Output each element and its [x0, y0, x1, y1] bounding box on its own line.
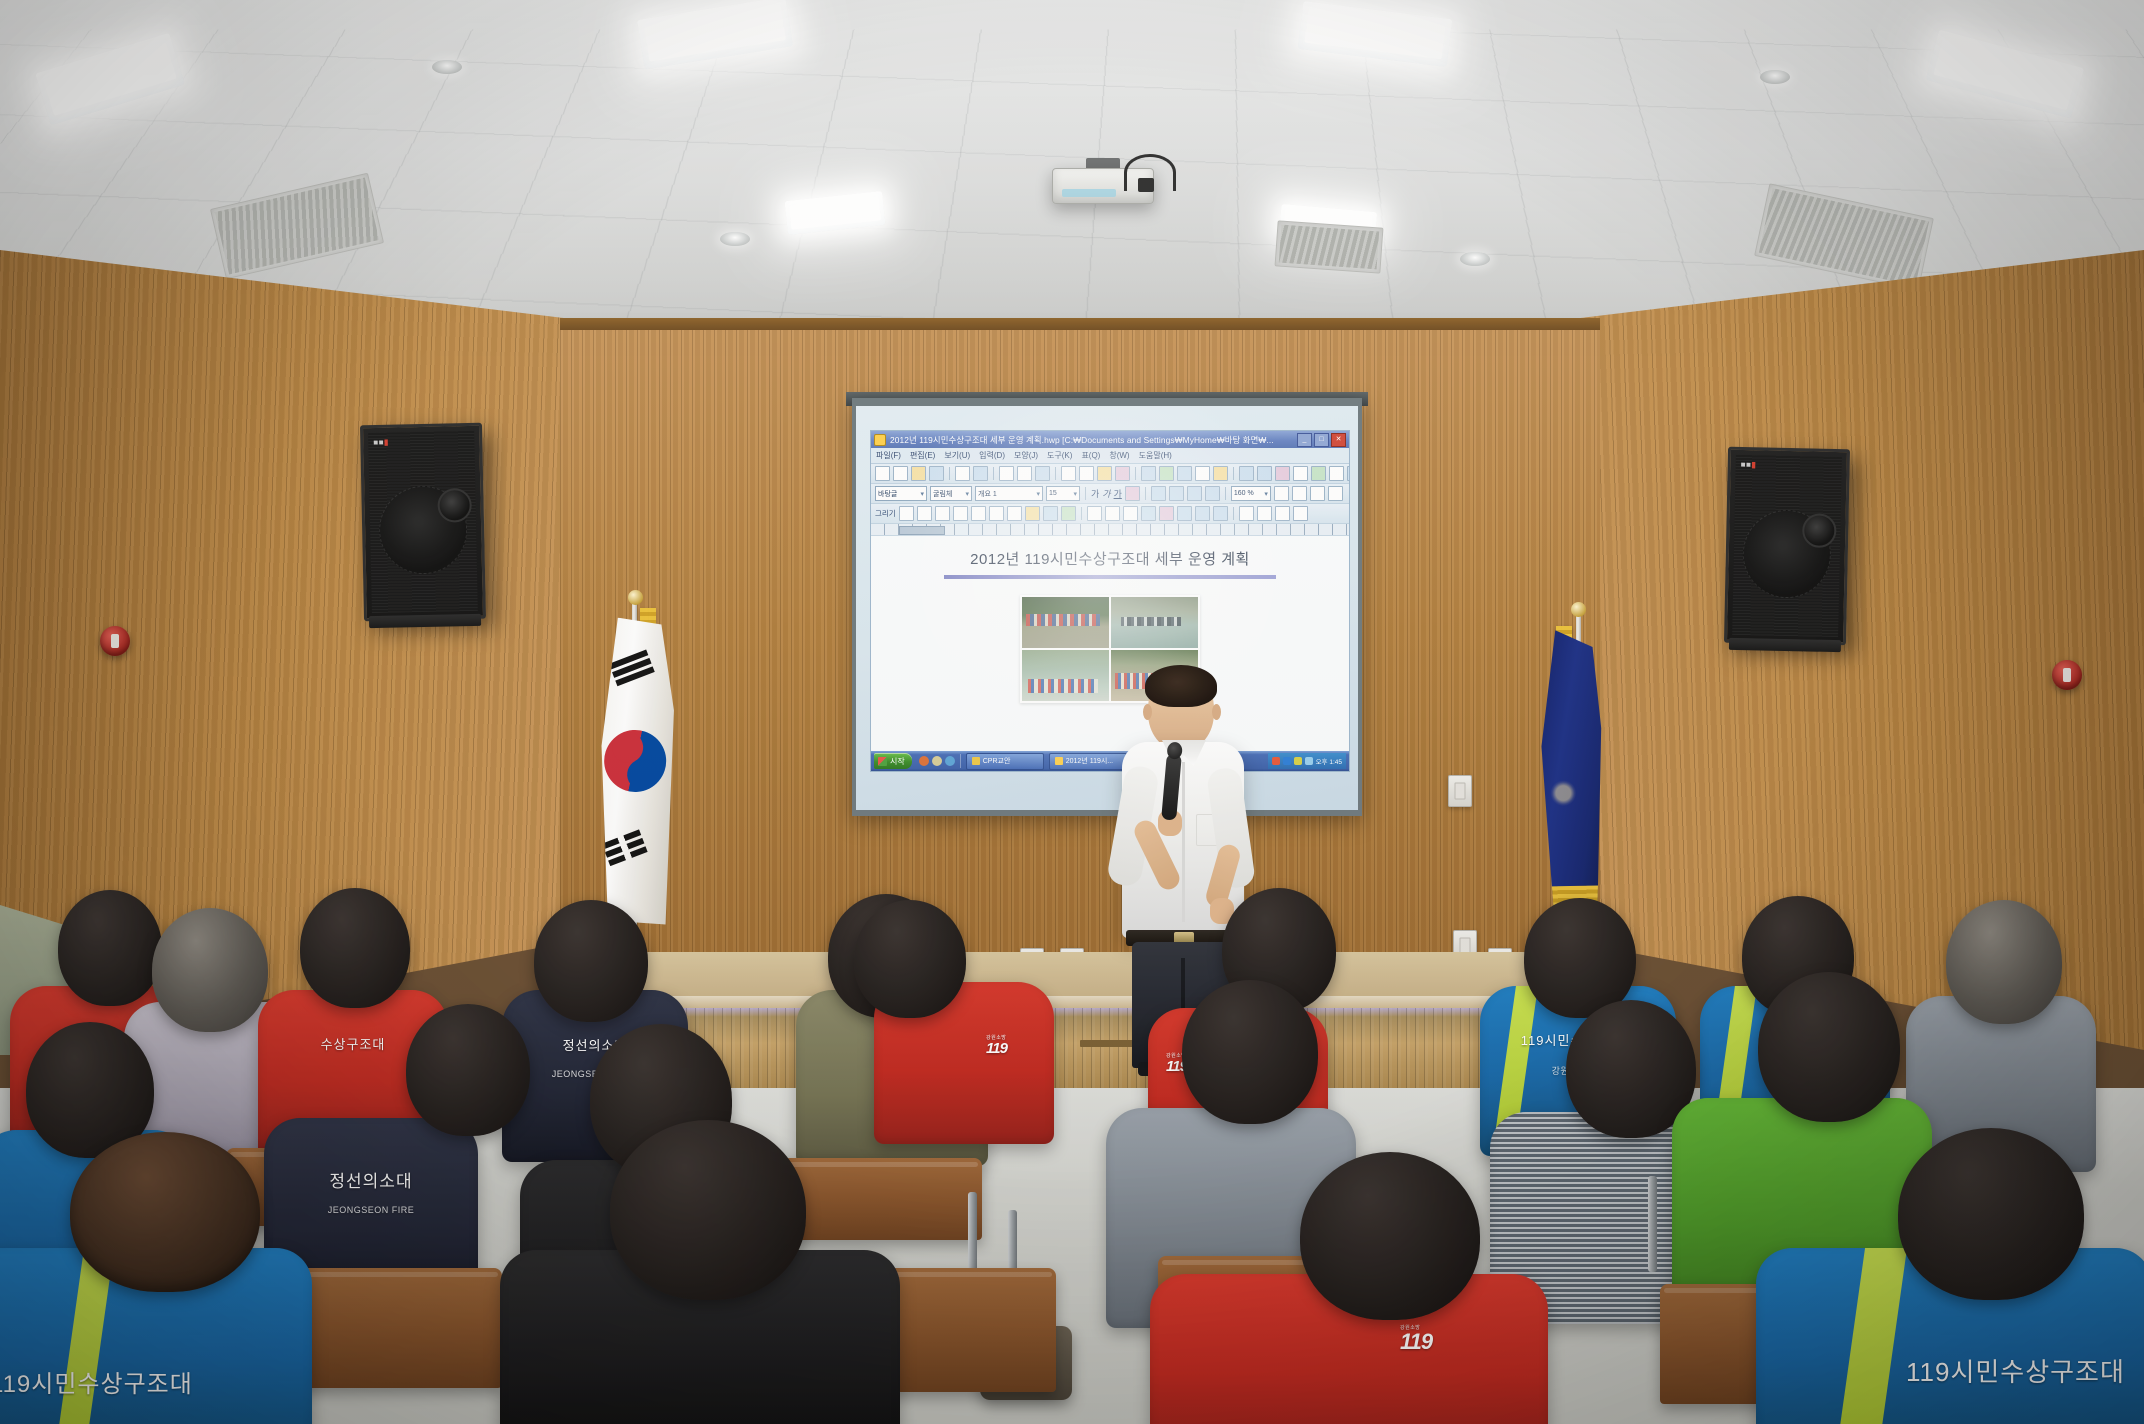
align-left-icon[interactable]: [1151, 486, 1166, 501]
audience-head: [854, 900, 966, 1018]
page-setup-icon[interactable]: [1239, 466, 1254, 481]
taskbar-item-hwp[interactable]: 2012년 119시...: [1049, 753, 1127, 770]
flip-icon[interactable]: [1275, 506, 1290, 521]
presenter-ear-left: [1143, 704, 1152, 720]
hwp-horizontal-ruler[interactable]: [871, 524, 1349, 536]
start-button[interactable]: 시작: [874, 753, 912, 769]
rectangle-tool-icon[interactable]: [935, 506, 950, 521]
redo-icon[interactable]: [1017, 466, 1032, 481]
window-controls[interactable]: _ □ ✕: [1297, 433, 1346, 447]
columns-icon[interactable]: [1257, 466, 1272, 481]
recessed-downlight: [1460, 252, 1490, 266]
uniform-back-subtext: JEONGSEON FIRE: [264, 1205, 478, 1215]
underline-button[interactable]: 가: [1114, 487, 1122, 500]
polygon-tool-icon[interactable]: [989, 506, 1004, 521]
audience-head: [1946, 900, 2062, 1024]
order-objects-icon[interactable]: [1195, 506, 1210, 521]
fire-alarm-bell-icon: [100, 626, 130, 656]
presenter-ear-right: [1212, 704, 1221, 720]
crop-icon[interactable]: [1293, 506, 1308, 521]
presenter-hair: [1145, 665, 1217, 707]
rotate-icon[interactable]: [1087, 506, 1102, 521]
hwp-menu-bar[interactable]: 파일(F) 편집(E) 보기(U) 입력(D) 모양(J) 도구(K) 표(Q)…: [871, 448, 1349, 464]
tray-ime-icon[interactable]: [1305, 757, 1313, 765]
select-object-icon[interactable]: [899, 506, 914, 521]
new-document-icon[interactable]: [875, 466, 890, 481]
copy-icon[interactable]: [1079, 466, 1094, 481]
bold-button[interactable]: 가: [1091, 487, 1099, 500]
folder-open-icon[interactable]: [911, 466, 926, 481]
quicklaunch-media-icon[interactable]: [945, 756, 955, 766]
audience-head: [1898, 1128, 2084, 1300]
projection-screen: 2012년 119시민수상구조대 세부 운영 계획.hwp [C:₩Docume…: [856, 406, 1358, 810]
ungroup-icon[interactable]: [1123, 506, 1138, 521]
font-size-value: 15: [1049, 490, 1057, 497]
align-justify-icon[interactable]: [1205, 486, 1220, 501]
speaker-base: [1729, 638, 1841, 652]
menu-item-format[interactable]: 모양(J): [1014, 450, 1038, 461]
audience-head: [534, 900, 648, 1022]
paragraph-style-combo[interactable]: 개요 1▾: [975, 486, 1043, 501]
menu-item-edit[interactable]: 편집(E): [910, 450, 935, 461]
align-center-icon[interactable]: [1169, 486, 1184, 501]
bullet-list-icon[interactable]: [1310, 486, 1325, 501]
speaker-base: [369, 614, 481, 628]
quick-launch-bar[interactable]: [917, 756, 955, 766]
flagpole-finial-left: [628, 590, 643, 605]
paragraph-style-value: 개요 1: [978, 489, 997, 499]
insert-equation-icon[interactable]: [1177, 466, 1192, 481]
align-right-icon[interactable]: [1187, 486, 1202, 501]
print-preview-icon[interactable]: [973, 466, 988, 481]
three-d-icon[interactable]: [1257, 506, 1272, 521]
insert-chart-icon[interactable]: [1159, 466, 1174, 481]
ceiling-mounted-projector: [1052, 158, 1152, 204]
shadow-icon[interactable]: [1239, 506, 1254, 521]
uniform-back-text: 정선의소대: [264, 1167, 478, 1192]
spellcheck-icon[interactable]: [1293, 466, 1308, 481]
hwp-drawing-toolbar[interactable]: 그리기: [871, 504, 1349, 524]
cut-icon[interactable]: [1061, 466, 1076, 481]
tray-network-icon[interactable]: [1283, 757, 1291, 765]
audience-head: [610, 1120, 806, 1300]
auditorium-photo: ■■▮ ■■▮ 2012년 119시민수상구조대 세부 운영 계획.hwp [C…: [0, 0, 2144, 1424]
curve-tool-icon[interactable]: [1007, 506, 1022, 521]
tray-volume-icon[interactable]: [1294, 757, 1302, 765]
tray-antivirus-icon[interactable]: [1272, 757, 1280, 765]
drawing-toolbar-label: 그리기: [875, 508, 896, 519]
recessed-downlight: [1760, 70, 1790, 84]
document-photo-3: [1022, 650, 1109, 701]
right-wood-wall: [1564, 250, 2144, 1050]
recessed-downlight: [720, 232, 750, 246]
audience-head: [58, 890, 162, 1006]
hwp-application-window[interactable]: 2012년 119시민수상구조대 세부 운영 계획.hwp [C:₩Docume…: [870, 430, 1350, 772]
menu-item-view[interactable]: 보기(U): [944, 450, 970, 461]
menu-item-window[interactable]: 창(W): [1109, 450, 1129, 461]
document-heading: 2012년 119시민수상구조대 세부 운영 계획: [871, 548, 1349, 569]
align-objects-icon[interactable]: [1177, 506, 1192, 521]
projection-screen-frame: 2012년 119시민수상구조대 세부 운영 계획.hwp [C:₩Docume…: [852, 398, 1362, 816]
arc-tool-icon[interactable]: [971, 506, 986, 521]
wall-switch-plate[interactable]: [1448, 775, 1472, 807]
highlight-icon[interactable]: [1275, 466, 1290, 481]
distribute-objects-icon[interactable]: [1213, 506, 1228, 521]
pa-speaker-right: ■■▮: [1724, 447, 1850, 646]
document-photo-1: [1022, 597, 1109, 648]
hwp-icon: [1055, 757, 1063, 765]
ellipse-tool-icon[interactable]: [953, 506, 968, 521]
wall-top-trim: [560, 318, 1600, 330]
fire-alarm-bell-icon: [2052, 660, 2082, 690]
insert-image-icon[interactable]: [1213, 466, 1228, 481]
hwp-title-bar[interactable]: 2012년 119시민수상구조대 세부 운영 계획.hwp [C:₩Docume…: [871, 431, 1349, 448]
quicklaunch-browser-icon[interactable]: [919, 756, 929, 766]
menu-item-insert[interactable]: 입력(D): [979, 450, 1005, 461]
frame-icon[interactable]: [1347, 466, 1350, 481]
indent-icon[interactable]: [1292, 486, 1307, 501]
auditorium-chair[interactable]: [782, 1158, 982, 1240]
audience-head: [1182, 980, 1318, 1124]
hanja-convert-icon[interactable]: [1329, 466, 1344, 481]
presenter-shirt-placket: [1182, 762, 1185, 922]
macro-icon[interactable]: [1311, 466, 1326, 481]
minimize-button[interactable]: _: [1297, 433, 1312, 447]
maximize-button[interactable]: □: [1314, 433, 1329, 447]
speaker-brand-label: ■■▮: [1741, 460, 1757, 469]
freeform-tool-icon[interactable]: [1025, 506, 1040, 521]
menu-item-help[interactable]: 도움말(H): [1139, 450, 1172, 461]
audience-head: [406, 1004, 530, 1136]
line-spacing-icon[interactable]: [1274, 486, 1289, 501]
close-button[interactable]: ✕: [1331, 433, 1346, 447]
font-size-combo[interactable]: 15▾: [1046, 486, 1080, 501]
hwp-document-page[interactable]: 2012년 119시민수상구조대 세부 운영 계획 ◀ ▶: [871, 536, 1349, 772]
line-tool-icon[interactable]: [917, 506, 932, 521]
document-photo-2: [1111, 597, 1198, 648]
zoom-combo[interactable]: 160 %▾: [1231, 486, 1271, 501]
insert-table-icon[interactable]: [1141, 466, 1156, 481]
taskbar-item-hwp-label: 2012년 119시...: [1066, 756, 1113, 766]
find-icon[interactable]: [1035, 466, 1050, 481]
flag-taeguk-symbol: [595, 719, 677, 802]
font-combo[interactable]: 굴림체▾: [930, 486, 972, 501]
textbox-tool-icon[interactable]: [1043, 506, 1058, 521]
hwp-window-title: 2012년 119시민수상구조대 세부 운영 계획.hwp [C:₩Docume…: [890, 434, 1274, 446]
audience-head: [70, 1132, 260, 1292]
flag-emblem: [1550, 780, 1576, 806]
quicklaunch-desktop-icon[interactable]: [932, 756, 942, 766]
flag-trigram-gon: [602, 829, 648, 866]
start-button-label: 시작: [890, 756, 905, 767]
print-icon[interactable]: [955, 466, 970, 481]
system-tray[interactable]: 오후 1:45: [1268, 753, 1346, 769]
hwp-app-icon: [874, 434, 886, 446]
flagpole-finial-right: [1571, 602, 1586, 617]
windows-flag-icon: [878, 757, 887, 766]
projector-plug: [1138, 178, 1154, 192]
audience-head: [152, 908, 268, 1032]
uniform-back-text: 119시민수상구조대: [0, 1364, 312, 1399]
style-combo-value: 바탕글: [878, 489, 897, 499]
audience-head: [1300, 1152, 1480, 1320]
undo-icon[interactable]: [999, 466, 1014, 481]
projector-lens-band: [1062, 189, 1116, 197]
uniform-119-logo: 강원소방119: [1400, 1326, 1432, 1353]
pa-speaker-left: ■■▮: [360, 423, 486, 622]
uniform-119-logo: 강원소방119: [986, 1036, 1007, 1056]
italic-button[interactable]: 가: [1102, 487, 1110, 500]
folder-icon: [972, 757, 980, 765]
chair-leg: [1648, 1176, 1657, 1272]
fill-color-icon[interactable]: [1159, 506, 1174, 521]
recessed-downlight: [432, 60, 462, 74]
font-combo-value: 굴림체: [933, 489, 952, 499]
open-document-icon[interactable]: [893, 466, 908, 481]
windows-taskbar[interactable]: 시작 CPR교안 2012년 119시...: [871, 751, 1349, 771]
font-color-icon[interactable]: [1125, 486, 1140, 501]
group-icon[interactable]: [1105, 506, 1120, 521]
style-combo[interactable]: 바탕글▾: [875, 486, 927, 501]
hwp-formatting-toolbar[interactable]: 바탕글▾ 굴림체▾ 개요 1▾ 15▾ 가 가 가: [871, 484, 1349, 504]
ruler-indent-marker[interactable]: [899, 526, 945, 535]
menu-item-table[interactable]: 표(Q): [1081, 450, 1100, 461]
hwp-standard-toolbar[interactable]: [871, 464, 1349, 484]
line-style-icon[interactable]: [1141, 506, 1156, 521]
taskbar-item-folder-label: CPR교안: [983, 756, 1011, 766]
uniform-back-text: 119시민수상구조대: [1906, 1352, 2144, 1389]
document-heading-underline: [944, 575, 1276, 579]
format-brush-icon[interactable]: [1115, 466, 1130, 481]
zoom-value: 160 %: [1234, 490, 1254, 497]
paste-icon[interactable]: [1097, 466, 1112, 481]
save-icon[interactable]: [929, 466, 944, 481]
tray-clock: 오후 1:45: [1316, 756, 1342, 766]
menu-item-tools[interactable]: 도구(K): [1047, 450, 1072, 461]
insert-shape-icon[interactable]: [1195, 466, 1210, 481]
menu-item-file[interactable]: 파일(F): [876, 450, 901, 461]
speaker-brand-label: ■■▮: [373, 438, 389, 447]
picture-tool-icon[interactable]: [1061, 506, 1076, 521]
numbered-list-icon[interactable]: [1328, 486, 1343, 501]
taskbar-item-folder[interactable]: CPR교안: [966, 753, 1044, 770]
vest-reflective-stripe: [1837, 1248, 1907, 1424]
ceiling-air-diffuser: [1275, 220, 1384, 273]
flag-trigram-geon: [609, 650, 655, 687]
audience-head: [1758, 972, 1900, 1122]
audience-head: [300, 888, 410, 1008]
stage-platform-top: [560, 952, 1600, 1000]
